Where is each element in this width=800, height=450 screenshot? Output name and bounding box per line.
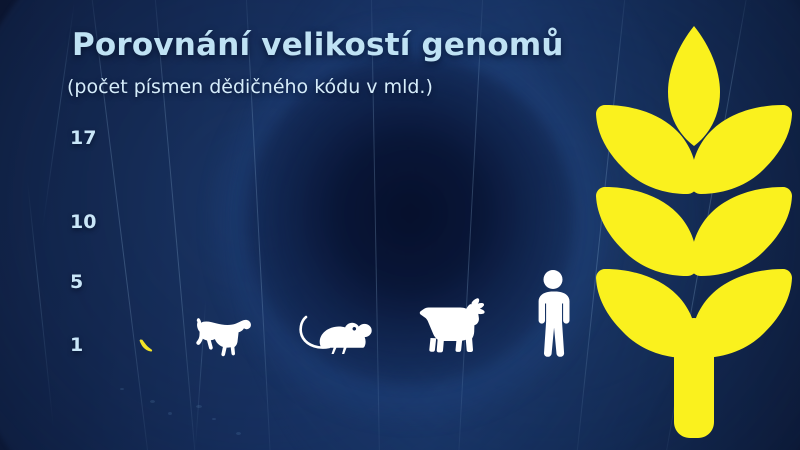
background-speck [212,418,216,420]
background-speck [120,388,124,390]
banana-icon [136,334,160,358]
axis-tick-1: 1 [70,334,83,356]
human-icon [533,269,573,357]
background-speck [168,412,172,415]
dog-icon [193,315,253,357]
background-vortex-core [245,55,575,385]
background-speck [236,432,241,435]
axis-tick-17: 17 [70,127,96,149]
page-subtitle: (počet písmen dědičného kódu v mld.) [67,76,433,98]
wheat-icon [588,18,800,438]
mouse-icon [297,313,375,358]
page-title: Porovnání velikostí genomů [72,27,564,63]
cow-icon [416,296,494,358]
axis-tick-5: 5 [70,271,83,293]
background-speck [196,405,202,408]
genome-comparison-infographic: Porovnání velikostí genomů (počet písmen… [0,0,800,450]
background-speck [150,400,155,403]
axis-tick-10: 10 [70,211,96,233]
